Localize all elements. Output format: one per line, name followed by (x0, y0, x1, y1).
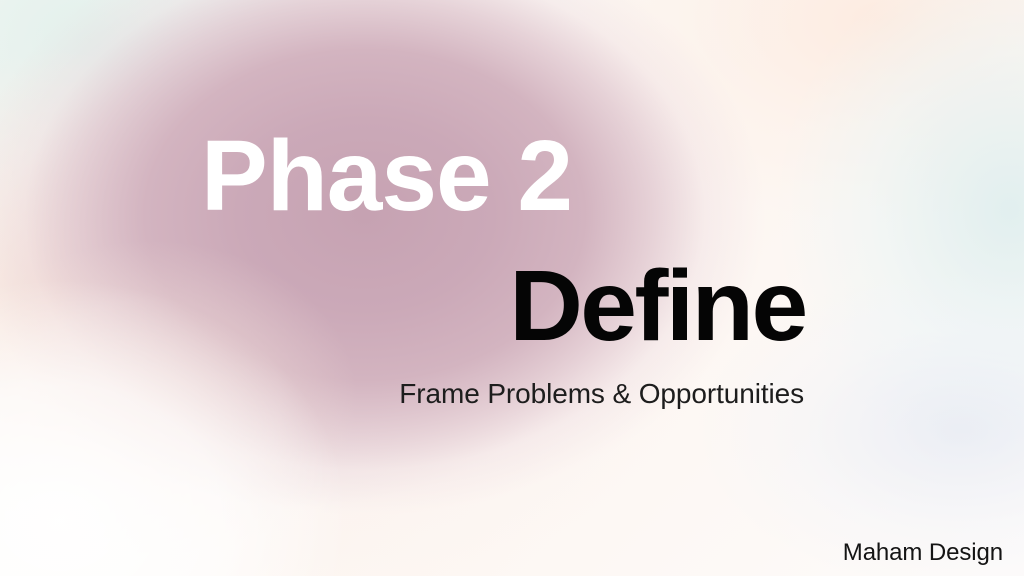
phase-label: Phase 2 (201, 126, 572, 226)
slide-subtitle: Frame Problems & Opportunities (399, 380, 804, 408)
presentation-slide: Phase 2 Define Frame Problems & Opportun… (0, 0, 1024, 576)
author-credit: Maham Design (843, 541, 1003, 565)
slide-title: Define (510, 256, 806, 356)
